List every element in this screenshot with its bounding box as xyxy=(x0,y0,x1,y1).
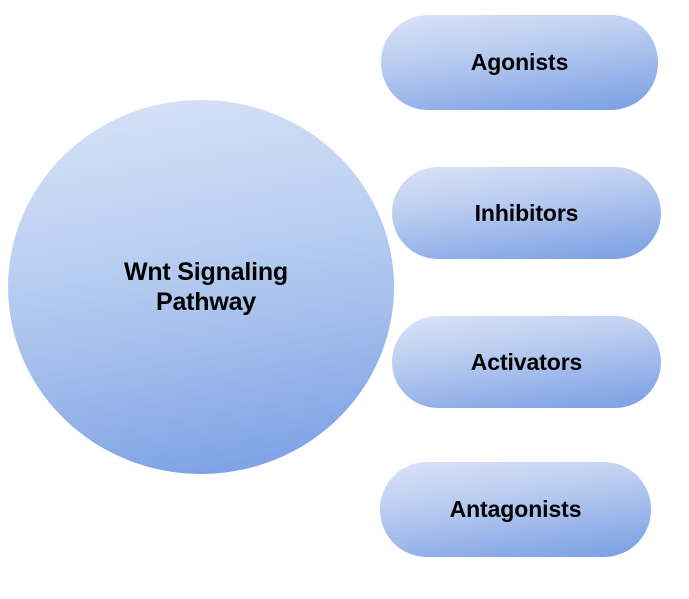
branch-node-label-antagonists: Antagonists xyxy=(450,496,582,523)
branch-node-inhibitors[interactable]: Inhibitors xyxy=(392,167,661,259)
branch-node-activators[interactable]: Activators xyxy=(392,316,661,408)
branch-node-label-agonists: Agonists xyxy=(471,49,569,76)
branch-node-label-inhibitors: Inhibitors xyxy=(475,200,579,227)
diagram-canvas: Wnt Signaling Pathway Agonists Inhibitor… xyxy=(0,0,689,599)
branch-node-label-activators: Activators xyxy=(471,349,583,376)
branch-node-agonists[interactable]: Agonists xyxy=(381,15,658,110)
hub-node-label: Wnt Signaling Pathway xyxy=(114,257,288,317)
branch-node-antagonists[interactable]: Antagonists xyxy=(380,462,651,557)
hub-node-wnt-signaling-pathway[interactable]: Wnt Signaling Pathway xyxy=(8,100,394,474)
